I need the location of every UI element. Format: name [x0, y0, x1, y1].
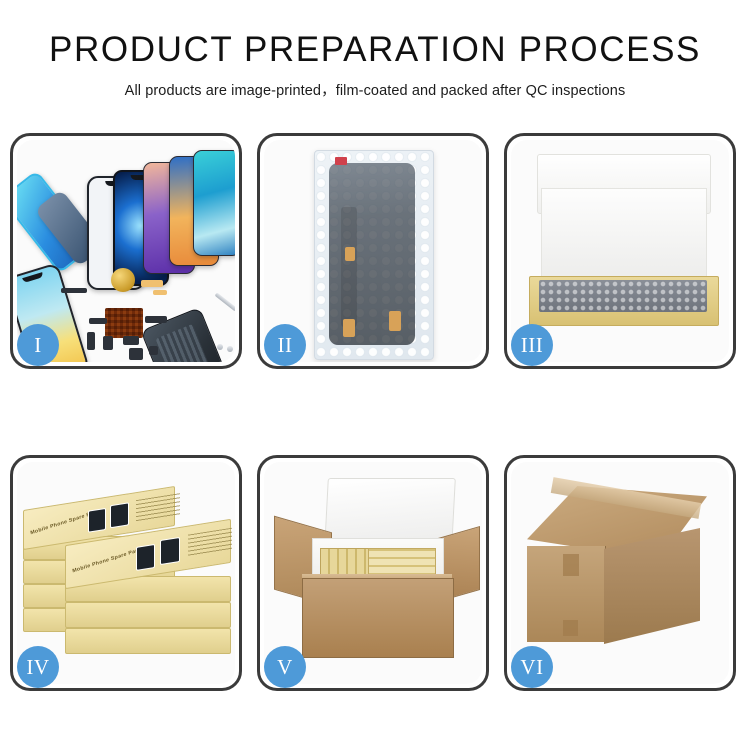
box-thumb-left-2 — [110, 502, 129, 528]
box-text-lines-right — [188, 528, 232, 557]
part-connector-gold-2 — [343, 319, 355, 337]
step-badge-4: IV — [17, 646, 59, 688]
part-chip — [149, 346, 158, 355]
carton-tab-upper — [563, 554, 579, 576]
part-connector-1 — [61, 288, 87, 293]
step-panel-2: II — [257, 133, 489, 369]
part-flex-cable-5 — [145, 316, 167, 323]
copper-shield-part — [105, 308, 143, 338]
page-subtitle: All products are image-printed，film-coat… — [0, 79, 750, 100]
infographic-page: PRODUCT PREPARATION PROCESS All products… — [0, 0, 750, 750]
stacked-box-right-2 — [65, 602, 231, 628]
box-thumb-left-1 — [88, 508, 106, 533]
notch-icon — [22, 272, 43, 283]
tool-tweezers-icon — [215, 292, 235, 311]
step-badge-1: I — [17, 324, 59, 366]
steps-grid: I II — [10, 133, 740, 691]
wrapped-screen-assembly — [329, 163, 415, 345]
step-panel-5: V — [257, 455, 489, 691]
part-flex-cable-4 — [87, 332, 95, 350]
part-bracket — [129, 348, 143, 360]
carton-tab-lower — [563, 620, 578, 636]
carton-body — [302, 578, 454, 658]
part-camera-module — [123, 336, 139, 345]
step-badge-5: V — [264, 646, 306, 688]
part-flex-cable-1 — [141, 280, 163, 287]
step-panel-3: III — [504, 133, 736, 369]
header: PRODUCT PREPARATION PROCESS All products… — [0, 0, 750, 100]
box-thumb-right-1 — [136, 544, 155, 571]
box-text-lines-left — [136, 493, 180, 522]
part-flex-cable-3 — [89, 318, 107, 324]
step-badge-6: VI — [511, 646, 553, 688]
speaker-module-part — [111, 268, 135, 292]
page-title: PRODUCT PREPARATION PROCESS — [0, 32, 750, 69]
part-screw-1 — [217, 344, 223, 350]
box-label-right: Mobile Phone Spare Parts — [72, 546, 143, 574]
stacked-box-right-1 — [65, 628, 231, 654]
box-stack: Mobile Phone Spare Parts Mobile Phone Sp… — [23, 480, 235, 676]
part-connector-gold-3 — [389, 311, 401, 331]
step-panel-1: I — [10, 133, 242, 369]
part-screw-2 — [227, 346, 233, 352]
foam-backing — [541, 188, 707, 286]
step-panel-4: Mobile Phone Spare Parts Mobile Phone Sp… — [10, 455, 242, 691]
packed-product-layer — [539, 280, 707, 312]
box-thumb-right-2 — [160, 537, 180, 565]
screen-teal — [193, 150, 235, 256]
step-badge-3: III — [511, 324, 553, 366]
step-badge-2: II — [264, 324, 306, 366]
bubble-wrap-bag — [314, 150, 434, 360]
bag-label-tag — [335, 157, 347, 165]
part-button-set — [103, 336, 113, 350]
part-flex-cable-2 — [153, 290, 167, 295]
part-connector-gold-1 — [345, 247, 355, 261]
step-panel-6: VI — [504, 455, 736, 691]
